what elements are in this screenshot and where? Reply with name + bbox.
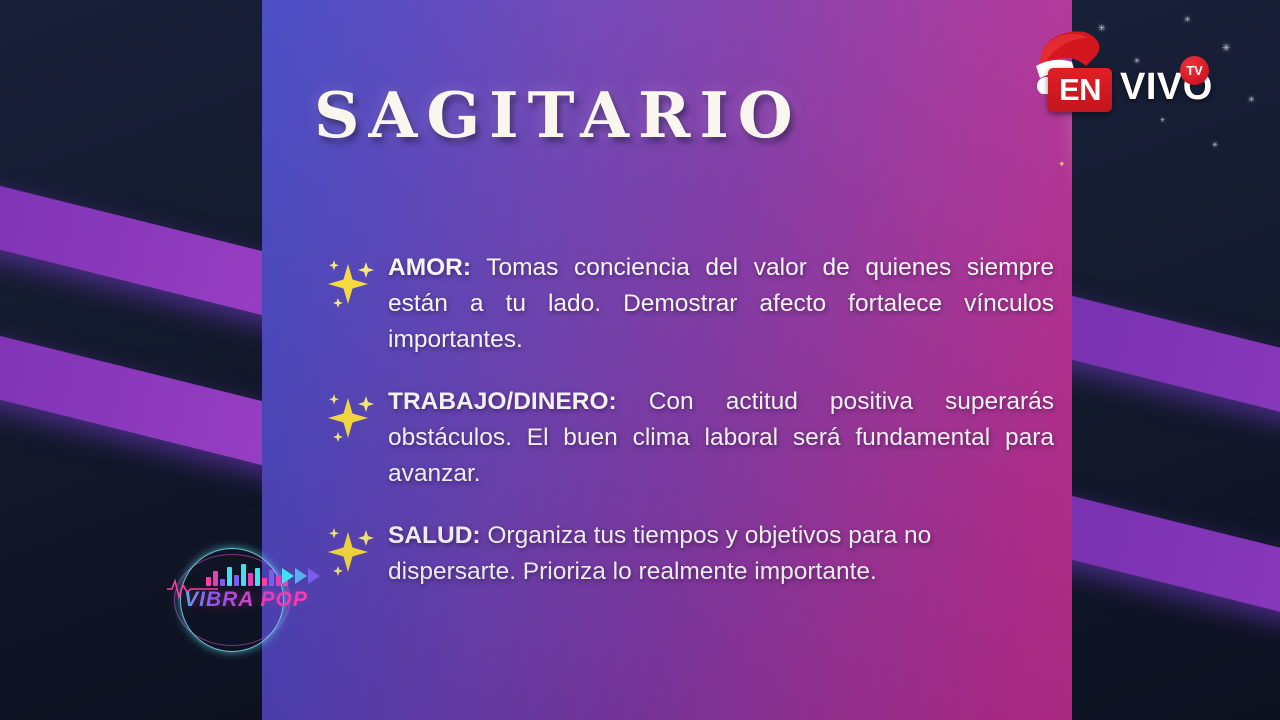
en-label: EN [1048,70,1112,110]
sparkle-icon: ✦ [1058,160,1066,169]
horoscope-text: AMOR: Tomas conciencia del valor de quie… [388,250,1054,358]
horoscope-text: TRABAJO/DINERO: Con actitud positiva sup… [388,384,1054,492]
horoscope-section-trabajo-dinero: TRABAJO/DINERO: Con actitud positiva sup… [312,384,1054,492]
snowflake-icon: ✳ [1248,96,1255,104]
page-title: SAGITARIO [314,78,784,152]
channel-name: VIBRA POP [168,588,324,612]
fast-forward-icon [278,564,322,588]
broadcast-screen: ✳ ✳ ✳ ✳ ✳ ✳ ✳ ✳ SAGITARIO ✦ ✦ ✦ ✦ ✦ ✦ ✦ … [0,0,1280,720]
horoscope-label: SALUD: [388,522,481,549]
decorative-band [1072,453,1280,668]
sparkles-icon [320,388,378,446]
sparkles-icon [320,254,378,312]
tv-badge: TV [1180,56,1209,85]
snowflake-icon: ✳ [1184,16,1191,24]
horoscope-body: Tomas conciencia del valor de quienes si… [388,254,1054,353]
horoscope-panel: SAGITARIO ✦ ✦ ✦ ✦ ✦ ✦ ✦ ✦ ✦ ✦ ✦ ✦ ✦ ✦ ✦ [262,0,1072,720]
horoscope-label: AMOR: [388,254,471,281]
snowflake-icon: ✳ [1212,142,1218,149]
live-broadcast-logo: EN VIVO TV [1026,26,1226,122]
horoscope-label: TRABAJO/DINERO: [388,388,617,415]
horoscope-text: SALUD: Organiza tus tiempos y objetivos … [388,518,1054,590]
horoscope-section-amor: AMOR: Tomas conciencia del valor de quie… [312,250,1054,358]
decorative-band [1072,253,1280,468]
horoscope-section-salud: SALUD: Organiza tus tiempos y objetivos … [312,518,1054,590]
channel-logo: VIBRA POP [162,540,330,660]
horoscope-sections: AMOR: Tomas conciencia del valor de quie… [312,250,1054,616]
decorative-band [0,113,262,328]
